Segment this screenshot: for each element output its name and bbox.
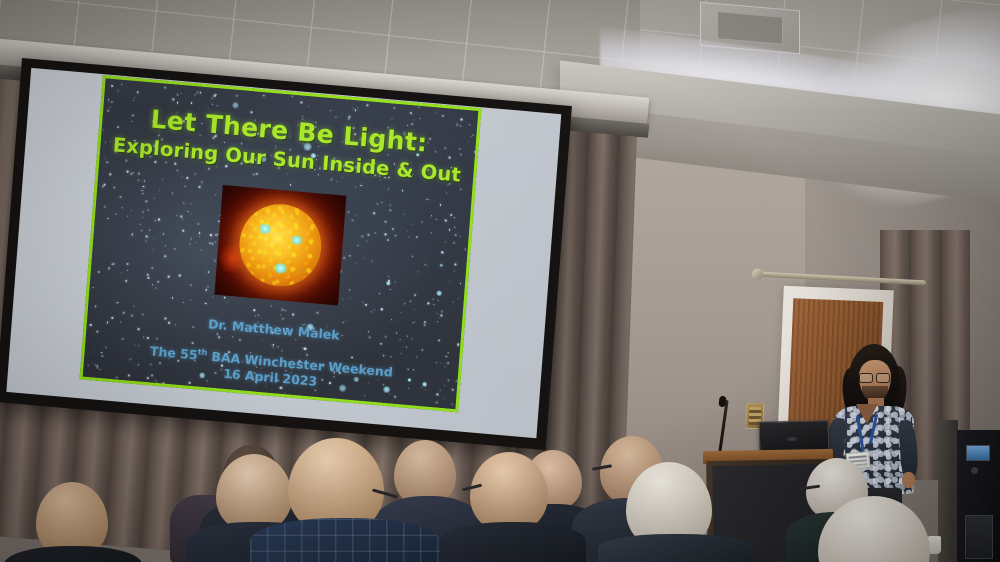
audience-body-front-4 (440, 522, 586, 562)
sun-image (214, 185, 346, 305)
audience-head-front-2 (216, 454, 292, 532)
projection-screen: Let There Be Light: Exploring Our Sun In… (0, 58, 572, 450)
projected-slide: Let There Be Light: Exploring Our Sun In… (80, 75, 482, 412)
audience-head-front-4 (470, 452, 548, 532)
presentation-photo: Let There Be Light: Exploring Our Sun In… (0, 0, 1000, 562)
glasses-icon (859, 373, 890, 381)
audience-body-front-1 (4, 546, 142, 562)
event-name-prefix: The 55 (150, 343, 199, 362)
audience (0, 400, 1000, 562)
active-region-2 (290, 235, 303, 245)
sun-disk (236, 201, 324, 290)
audience-body-front-5 (598, 534, 754, 562)
audience-body-front-3 (250, 518, 440, 562)
sun-granulation (236, 201, 324, 290)
